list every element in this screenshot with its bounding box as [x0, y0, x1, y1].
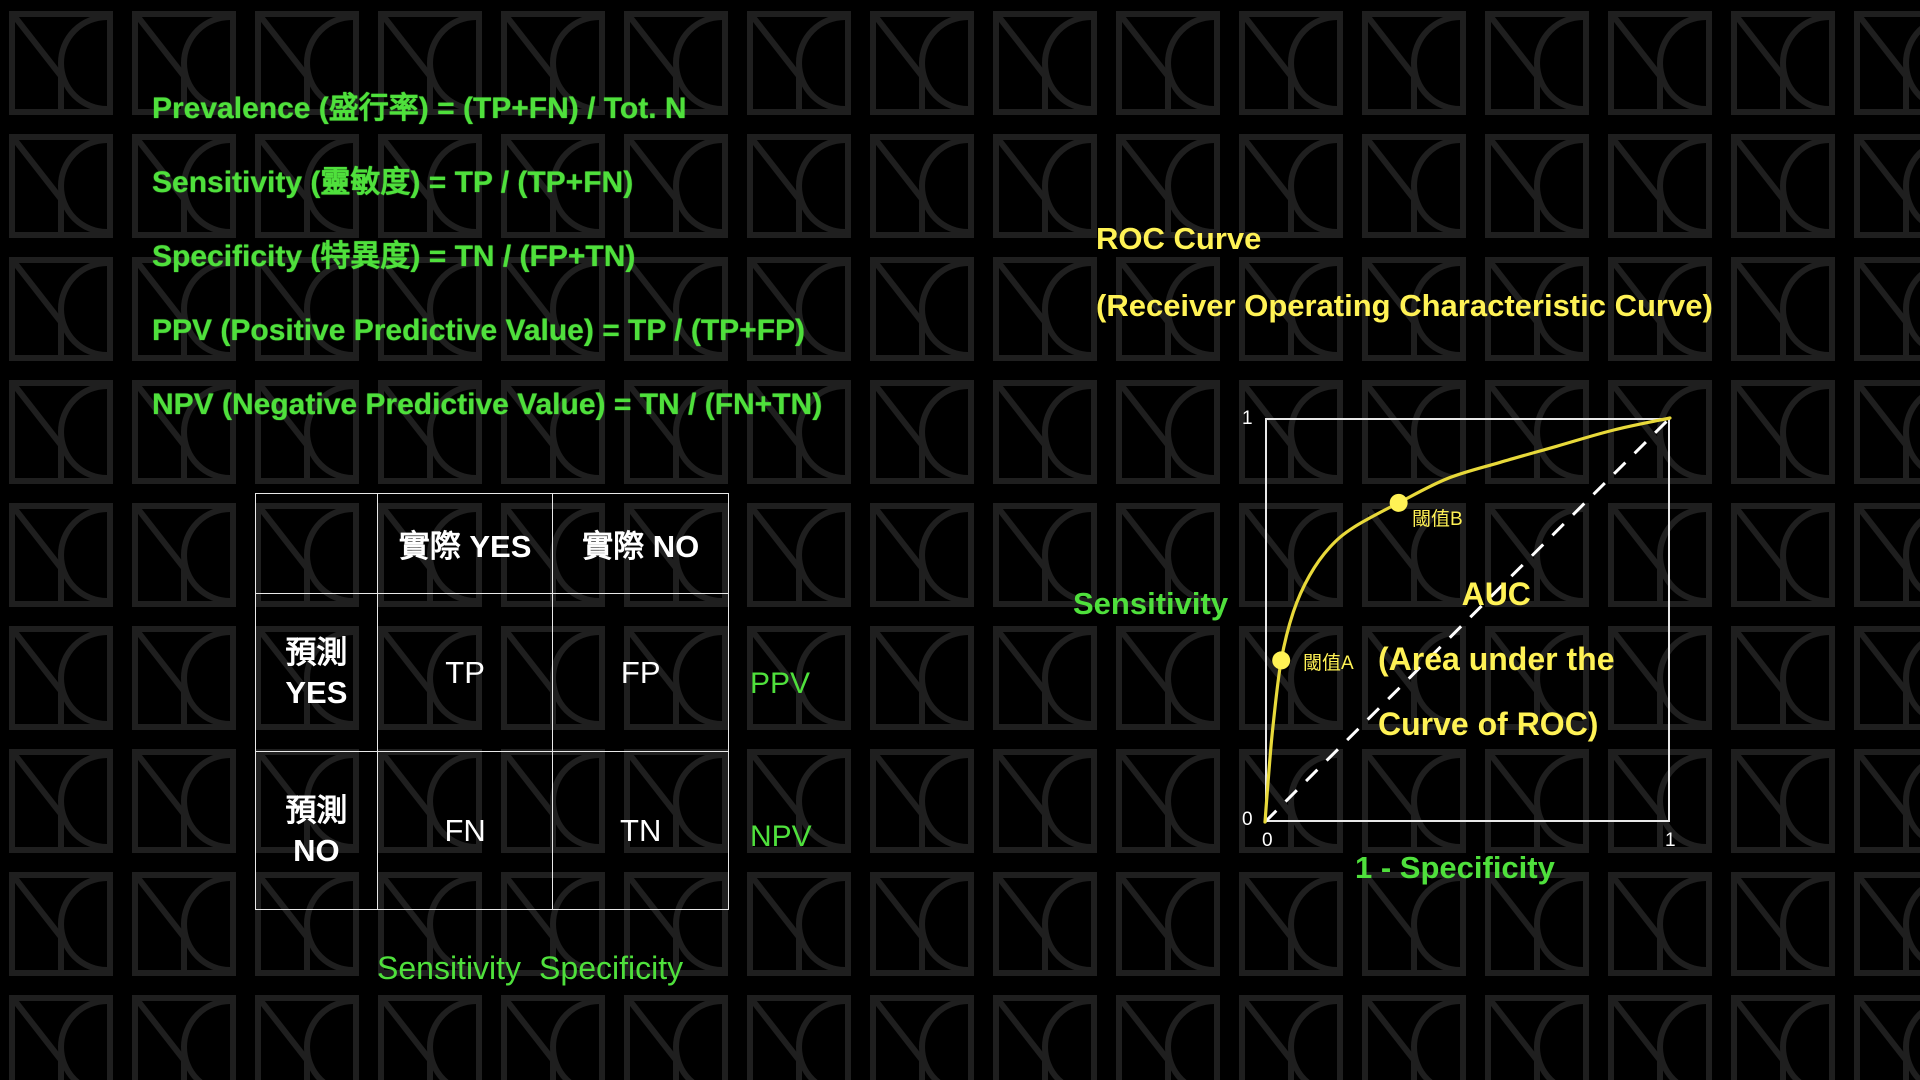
table-row: 預測NO FN TN [256, 752, 729, 910]
auc-annotation: AUC (Area under the Curve of ROC) [1378, 578, 1614, 740]
table-row-header: 實際 YES 實際 NO [256, 494, 729, 594]
auc-label: AUC [1378, 578, 1614, 610]
cell-false-negative: FN [377, 752, 553, 910]
x-axis-label: 1 - Specificity [1355, 850, 1555, 886]
auc-line-2: (Area under the [1378, 643, 1614, 675]
threshold-label-a: 閾值A [1303, 648, 1354, 675]
formula-npv: NPV (Negative Predictive Value) = TN / (… [152, 390, 822, 420]
formula-specificity: Specificity (特異度) = TN / (FP+TN) [152, 242, 822, 272]
row-header-line1: 預測 [285, 635, 347, 670]
confusion-matrix: 實際 YES 實際 NO 預測YES TP FP 預測NO FN TN [255, 493, 729, 910]
cell-false-positive: FP [553, 594, 729, 752]
row-header-line1: 預測 [285, 793, 347, 828]
cell-true-negative: TN [553, 752, 729, 910]
matrix-side-label-npv: NPV [750, 820, 812, 854]
threshold-marker-a[interactable] [1272, 651, 1290, 669]
y-axis-tick-1: 1 [1242, 408, 1253, 430]
matrix-side-label-ppv: PPV [750, 667, 810, 701]
row-header-line2: NO [293, 833, 340, 868]
threshold-marker-b[interactable] [1390, 494, 1408, 512]
matrix-corner-cell [256, 494, 378, 594]
column-header-actual-no: 實際 NO [553, 494, 729, 594]
formula-sensitivity: Sensitivity (靈敏度) = TP / (TP+FN) [152, 168, 822, 198]
roc-title-block: ROC Curve (Receiver Operating Characteri… [1096, 223, 1713, 321]
x-axis-tick-1: 1 [1665, 830, 1676, 852]
auc-line-3: Curve of ROC) [1378, 708, 1614, 740]
formula-prevalence: Prevalence (盛行率) = (TP+FN) / Tot. N [152, 94, 822, 124]
metric-formula-list: Prevalence (盛行率) = (TP+FN) / Tot. N Sens… [152, 94, 822, 420]
y-axis-label: Sensitivity [1073, 586, 1228, 622]
row-header-predicted-yes: 預測YES [256, 594, 378, 752]
x-axis-tick-0: 0 [1262, 830, 1273, 852]
matrix-bottom-labels: SensitivitySpecificity [377, 950, 683, 987]
row-header-predicted-no: 預測NO [256, 752, 378, 910]
y-axis-tick-0: 0 [1242, 809, 1253, 831]
row-header-line2: YES [285, 675, 347, 710]
threshold-label-b: 閾值B [1412, 504, 1463, 531]
matrix-bottom-label-specificity: Specificity [539, 950, 683, 986]
cell-true-positive: TP [377, 594, 553, 752]
table-row: 預測YES TP FP [256, 594, 729, 752]
roc-title: ROC Curve [1096, 223, 1713, 254]
column-header-actual-yes: 實際 YES [377, 494, 553, 594]
matrix-bottom-label-sensitivity: Sensitivity [377, 950, 521, 986]
roc-subtitle: (Receiver Operating Characteristic Curve… [1096, 290, 1713, 321]
formula-ppv: PPV (Positive Predictive Value) = TP / (… [152, 316, 822, 346]
